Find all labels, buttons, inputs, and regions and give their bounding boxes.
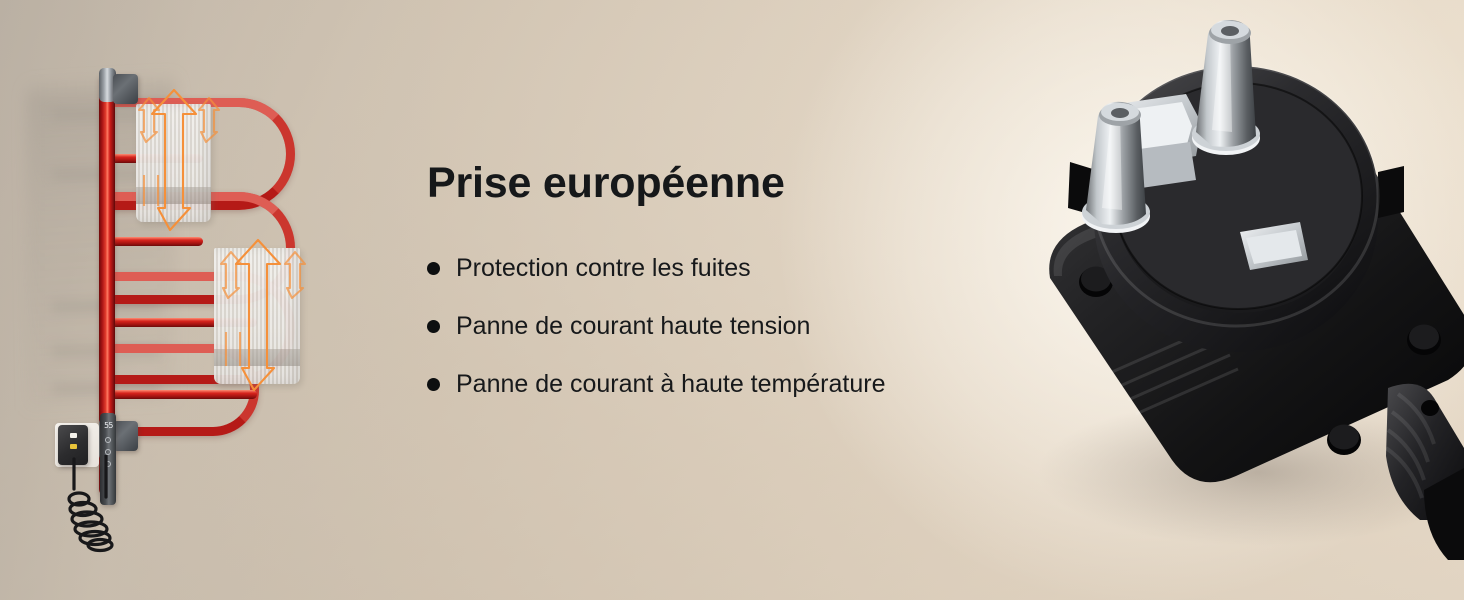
control-panel-display: 55	[102, 421, 115, 430]
status-led-amber-icon	[70, 444, 77, 449]
feature-list: Protection contre les fuites Panne de co…	[427, 255, 987, 397]
heated-rung	[107, 390, 257, 399]
european-plug-image	[1000, 20, 1464, 580]
list-item: Panne de courant à haute température	[427, 371, 987, 397]
list-item: Protection contre les fuites	[427, 255, 987, 281]
wall-bracket	[113, 74, 138, 104]
control-panel-indicator-icon	[105, 437, 111, 443]
wall-bracket	[113, 421, 138, 451]
product-feature-banner: 55 Prise européenne	[0, 0, 1464, 600]
coiled-power-cord	[46, 455, 156, 565]
feature-label: Panne de courant à haute température	[456, 371, 885, 397]
page-title: Prise européenne	[427, 160, 987, 206]
hanging-towel	[136, 104, 211, 222]
bullet-dot-icon	[427, 378, 440, 391]
hanging-towel	[214, 248, 300, 384]
feature-label: Protection contre les fuites	[456, 255, 751, 281]
status-led-white-icon	[70, 433, 77, 438]
feature-label: Panne de courant haute tension	[456, 313, 810, 339]
bullet-dot-icon	[427, 320, 440, 333]
bullet-dot-icon	[427, 262, 440, 275]
copy-block: Prise européenne Protection contre les f…	[427, 160, 987, 429]
heated-rung	[107, 237, 203, 246]
towel-warmer-image: 55	[0, 0, 400, 600]
schuko-plug-illustration	[1000, 20, 1464, 580]
list-item: Panne de courant haute tension	[427, 313, 987, 339]
